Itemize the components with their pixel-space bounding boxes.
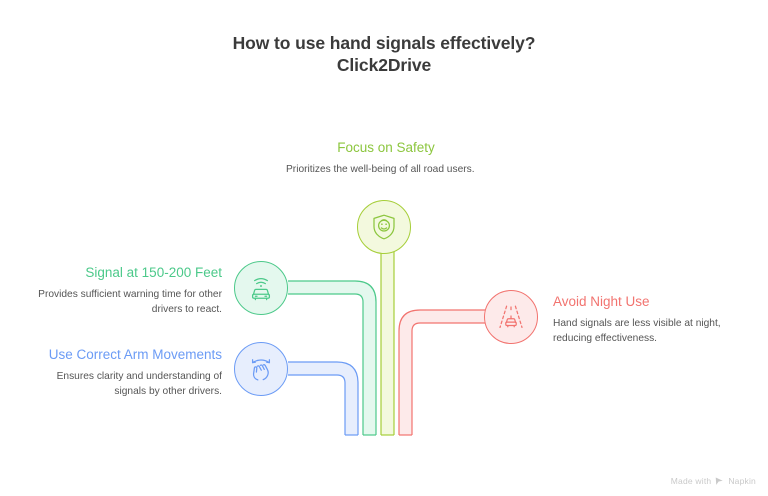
node-use-correct-arm-movements[interactable] <box>234 342 288 396</box>
label-avoid-night-use: Avoid Night Use Hand signals are less vi… <box>553 293 753 346</box>
watermark-prefix: Made with <box>671 476 712 486</box>
watermark: Made with Napkin <box>671 476 756 486</box>
label-description: Provides sufficient warning time for oth… <box>26 288 222 317</box>
diagram-canvas: How to use hand signals effectively? Cli… <box>0 0 768 496</box>
label-heading: Focus on Safety <box>286 139 486 156</box>
shield-face-icon <box>369 212 399 242</box>
label-description: Hand signals are less visible at night, … <box>553 317 753 346</box>
label-signal-at-150-200-feet: Signal at 150-200 Feet Provides sufficie… <box>26 264 222 317</box>
connector-night-pipe-outline <box>399 310 486 435</box>
label-heading: Avoid Night Use <box>553 293 753 310</box>
label-heading: Signal at 150-200 Feet <box>26 264 222 281</box>
connector-arm-pipe <box>288 369 352 436</box>
connector-night-pipe <box>406 317 485 436</box>
watermark-brand: Napkin <box>728 476 756 486</box>
connector-signal-pipe-outline <box>288 281 376 435</box>
node-signal-at-150-200-feet[interactable] <box>234 261 288 315</box>
label-description: Ensures clarity and understanding of sig… <box>26 370 222 399</box>
car-signal-icon <box>246 273 276 303</box>
waving-hand-icon <box>246 354 276 384</box>
node-avoid-night-use[interactable] <box>484 290 538 344</box>
label-description: Prioritizes the well-being of all road u… <box>286 163 486 178</box>
label-focus-on-safety: Focus on Safety Prioritizes the well-bei… <box>286 139 486 178</box>
label-use-correct-arm-movements: Use Correct Arm Movements Ensures clarit… <box>26 346 222 399</box>
napkin-logo-icon <box>715 477 724 486</box>
car-lane-night-icon <box>496 302 526 332</box>
label-heading: Use Correct Arm Movements <box>26 346 222 363</box>
node-focus-on-safety[interactable] <box>357 200 411 254</box>
